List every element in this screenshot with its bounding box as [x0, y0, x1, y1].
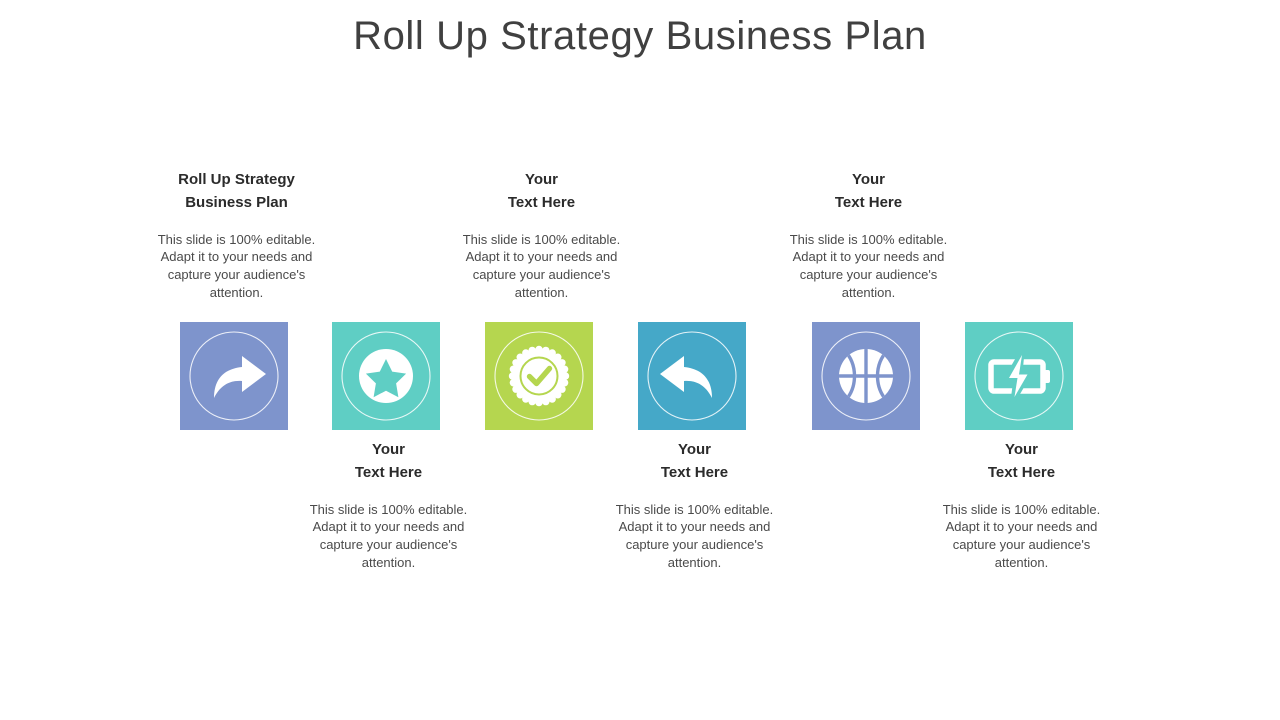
column-body: This slide is 100% editable. Adapt it to… — [605, 501, 784, 573]
icon-tile-reply-arrow[interactable] — [638, 322, 746, 430]
text-block: Your Text Here This slide is 100% editab… — [932, 438, 1111, 572]
icon-tile-check-rosette[interactable] — [485, 322, 593, 430]
column-3: Your Text Here This slide is 100% editab… — [460, 168, 623, 598]
icon-tile-basketball[interactable] — [812, 322, 920, 430]
text-block: Your Text Here This slide is 100% editab… — [605, 438, 784, 572]
column-heading: Roll Up Strategy Business Plan — [147, 168, 326, 215]
column-heading: Your Text Here — [605, 438, 784, 485]
column-body: This slide is 100% editable. Adapt it to… — [147, 231, 326, 303]
icon-tile-star-badge[interactable] — [332, 322, 440, 430]
icon-columns: Roll Up Strategy Business Plan This slid… — [155, 168, 1130, 598]
text-block: Your Text Here This slide is 100% editab… — [452, 168, 631, 302]
text-block: Your Text Here This slide is 100% editab… — [779, 168, 958, 302]
column-body: This slide is 100% editable. Adapt it to… — [779, 231, 958, 303]
column-4: Your Text Here This slide is 100% editab… — [613, 168, 776, 598]
column-body: This slide is 100% editable. Adapt it to… — [299, 501, 478, 573]
column-5: Your Text Here This slide is 100% editab… — [787, 168, 950, 598]
column-heading: Your Text Here — [779, 168, 958, 215]
column-heading: Your Text Here — [452, 168, 631, 215]
column-heading: Your Text Here — [932, 438, 1111, 485]
column-6: Your Text Here This slide is 100% editab… — [940, 168, 1103, 598]
star-badge-icon — [359, 349, 413, 403]
column-1: Roll Up Strategy Business Plan This slid… — [155, 168, 318, 598]
icon-tile-battery-charging[interactable] — [965, 322, 1073, 430]
column-2: Your Text Here This slide is 100% editab… — [307, 168, 470, 598]
column-body: This slide is 100% editable. Adapt it to… — [452, 231, 631, 303]
page-title: Roll Up Strategy Business Plan — [0, 12, 1280, 60]
check-rosette-icon — [509, 346, 569, 406]
column-heading: Your Text Here — [299, 438, 478, 485]
text-block: Roll Up Strategy Business Plan This slid… — [147, 168, 326, 302]
text-block: Your Text Here This slide is 100% editab… — [299, 438, 478, 572]
icon-tile-share-arrow[interactable] — [180, 322, 288, 430]
column-body: This slide is 100% editable. Adapt it to… — [932, 501, 1111, 573]
